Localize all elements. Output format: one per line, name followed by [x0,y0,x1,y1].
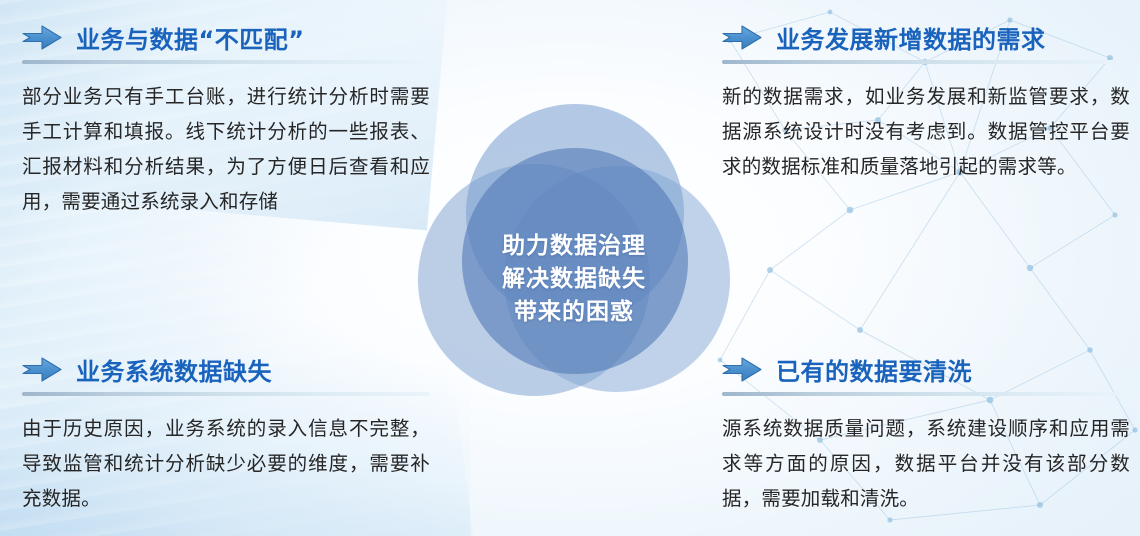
venn-circle-center [462,148,688,374]
panel-body-text: 由于历史原因，业务系统的录入信息不完整，导致监管和统计分析缺少必要的维度，需要补… [22,411,430,516]
panel-divider [22,392,430,396]
panel-title: 业务发展新增数据的需求 [776,20,1046,55]
panel-business-growth-new-data-demand: 业务发展新增数据的需求 新的数据需求，如业务发展和新监管要求，数据源系统设计时没… [722,18,1130,184]
arrow-right-icon [722,24,762,51]
panel-divider [22,60,430,64]
panel-title: 已有的数据要清洗 [776,352,972,387]
panel-title: 业务系统数据缺失 [76,352,272,387]
arrow-right-icon [722,356,762,383]
panel-business-data-mismatch: 业务与数据“不匹配” 部分业务只有手工台账，进行统计分析时需要手工计算和填报。线… [22,18,430,219]
panel-header: 业务系统数据缺失 [22,350,430,388]
panel-body-text: 源系统数据质量问题，系统建设顺序和应用需求等方面的原因，数据平台并没有该部分数据… [722,411,1130,516]
panel-header: 已有的数据要清洗 [722,350,1130,388]
arrow-right-icon [22,356,62,383]
panel-divider [722,60,1130,64]
panel-title: 业务与数据“不匹配” [76,20,305,55]
arrow-right-icon [22,24,62,51]
panel-business-system-data-missing: 业务系统数据缺失 由于历史原因，业务系统的录入信息不完整，导致监管和统计分析缺少… [22,350,430,516]
slide-canvas: 助力数据治理 解决数据缺失 带来的困惑 业务与数据“不匹配” 部分业务只有手工台… [0,0,1140,536]
center-venn-graphic: 助力数据治理 解决数据缺失 带来的困惑 [418,104,730,416]
panel-header: 业务与数据“不匹配” [22,18,430,56]
panel-divider [722,392,1130,396]
panel-body-text: 部分业务只有手工台账，进行统计分析时需要手工计算和填报。线下统计分析的一些报表、… [22,79,430,219]
panel-header: 业务发展新增数据的需求 [722,18,1130,56]
panel-body-text: 新的数据需求，如业务发展和新监管要求，数据源系统设计时没有考虑到。数据管控平台要… [722,79,1130,184]
panel-existing-data-needs-cleaning: 已有的数据要清洗 源系统数据质量问题，系统建设顺序和应用需求等方面的原因，数据平… [722,350,1130,516]
